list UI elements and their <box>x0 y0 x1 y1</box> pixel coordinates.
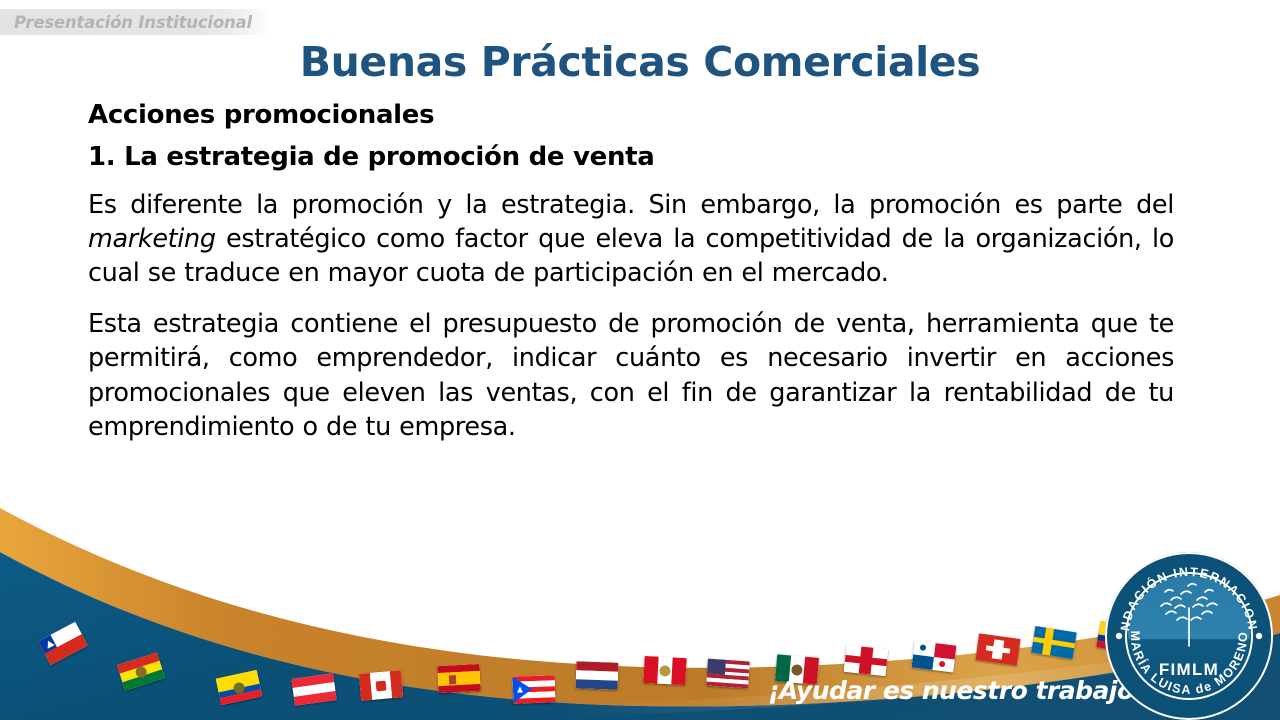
header-ribbon: Presentación Institucional <box>0 9 272 35</box>
footer-tagline: ¡Ayudar es nuestro trabajo! <box>768 676 1145 705</box>
flag-panama <box>912 641 957 673</box>
flag-netherlands <box>576 661 619 689</box>
section-heading-estrategia-promocion: 1. La estrategia de promoción de venta <box>88 142 1174 173</box>
flag-puerto-rico <box>513 675 556 703</box>
flag-peru <box>643 656 686 685</box>
flag-canada <box>359 670 403 701</box>
body-paragraph-2: Esta estrategia contiene el presupuesto … <box>88 307 1174 443</box>
flag-usa <box>706 659 750 689</box>
paragraph-1-text-after: estratégico como factor que eleva la com… <box>88 224 1174 288</box>
presentation-slide: Presentación Institucional Buenas Prácti… <box>0 0 1280 720</box>
paragraph-1-text-before: Es diferente la promoción y la estrategi… <box>88 190 1174 220</box>
page-title: Buenas Prácticas Comerciales <box>0 42 1280 83</box>
flag-spain <box>437 664 480 693</box>
flag-austria <box>291 673 336 706</box>
flag-switzerland <box>975 633 1020 666</box>
organization-seal-logo: FUNDACIÓN INTERNACIONAL MARÍA LUISA de M… <box>1103 550 1275 720</box>
section-heading-acciones-promocionales: Acciones promocionales <box>88 100 1174 131</box>
seal-left-ornament <box>1116 633 1122 639</box>
seal-right-ornament <box>1256 633 1262 639</box>
seal-center-text: FIMLM <box>1159 660 1219 679</box>
paragraph-1-italic-term: marketing <box>88 224 216 254</box>
slide-body: Acciones promocionales 1. La estrategia … <box>88 100 1174 461</box>
body-paragraph-1: Es diferente la promoción y la estrategi… <box>88 188 1174 290</box>
header-ribbon-label: Presentación Institucional <box>14 13 252 32</box>
flag-england <box>844 645 889 676</box>
